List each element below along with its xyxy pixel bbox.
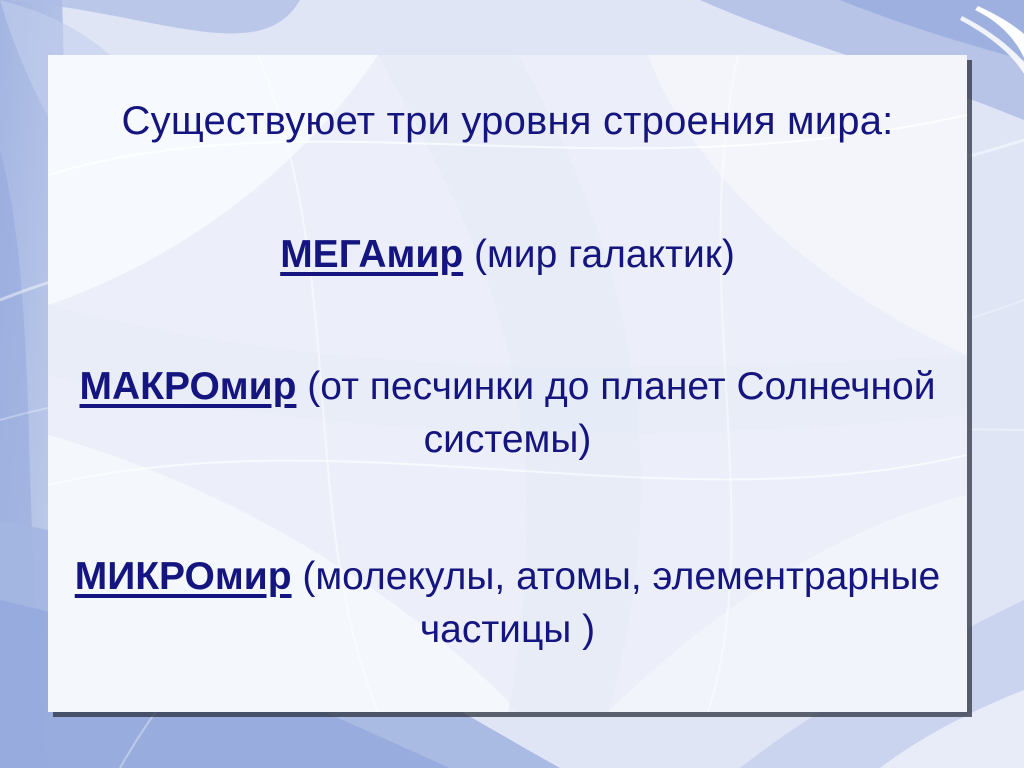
slide-heading: Существуюет три уровня строения мира: — [48, 98, 967, 144]
level-term-mikro: МИКРОмир — [75, 555, 292, 598]
level-term-mega: МЕГАмир — [280, 233, 463, 276]
level-item-mikro: МИКРОмир (молекулы, атомы, элементрарные… — [48, 550, 967, 656]
level-item-mega: МЕГАмир (мир галактик) — [48, 228, 967, 281]
level-description-mikro: (молекулы, атомы, элементрарные частицы … — [292, 555, 941, 651]
level-description-makro: (от песчинки до планет Солнечной системы… — [296, 365, 935, 461]
level-item-makro: МАКРОмир (от песчинки до планет Солнечно… — [48, 360, 967, 466]
panel-body: Существуюет три уровня строения мира: МЕ… — [48, 55, 967, 712]
level-description-mega: (мир галактик) — [463, 233, 735, 276]
slide: Существуюет три уровня строения мира: МЕ… — [0, 0, 1024, 768]
content-panel: Существуюет три уровня строения мира: МЕ… — [48, 55, 967, 712]
level-term-makro: МАКРОмир — [80, 365, 297, 408]
